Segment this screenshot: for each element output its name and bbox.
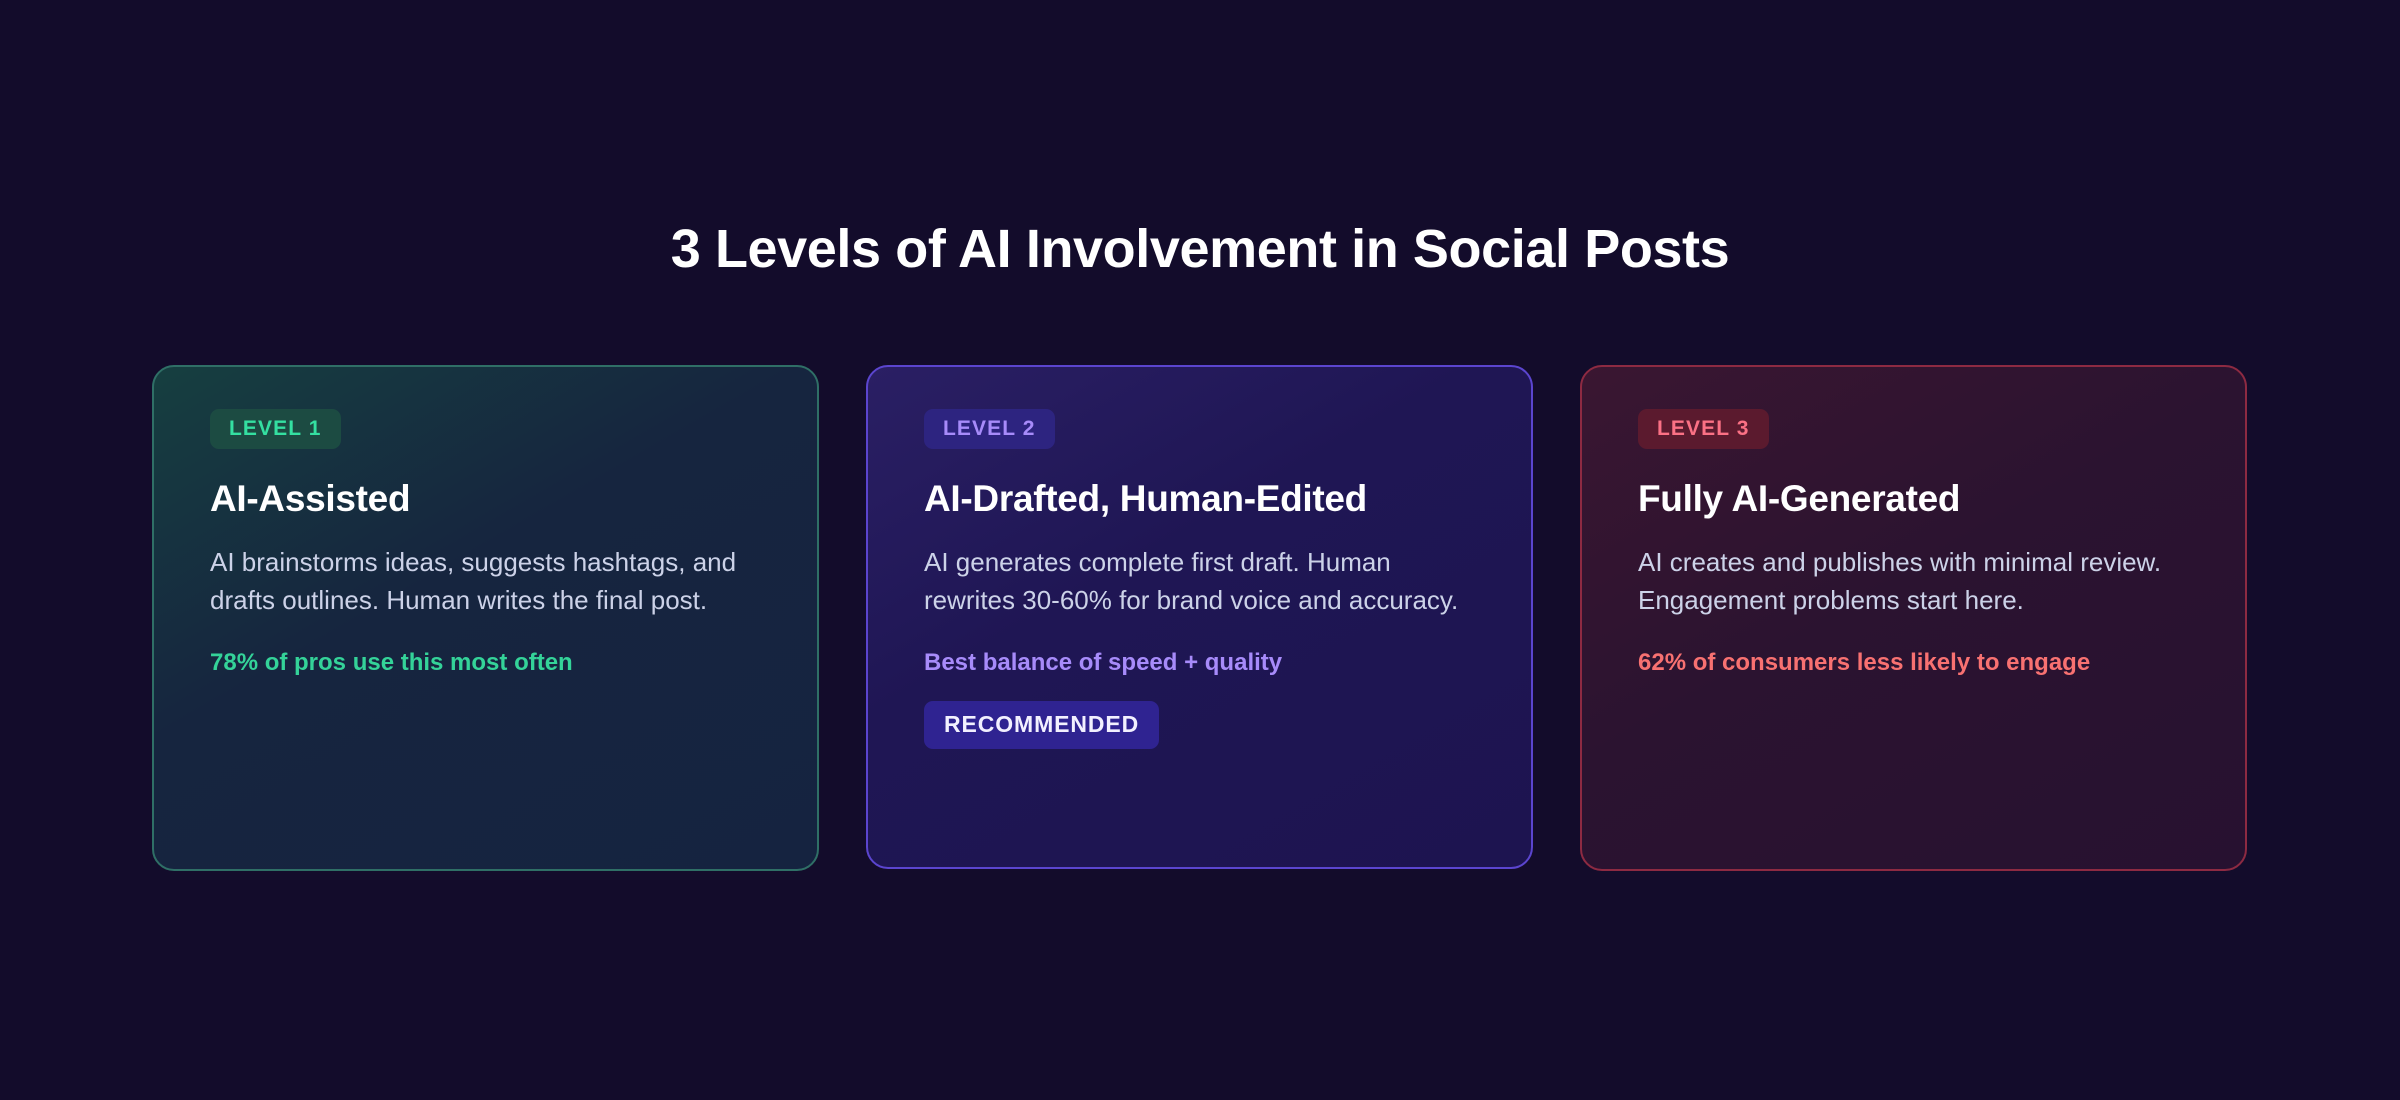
level-title-1: AI-Assisted <box>210 478 761 521</box>
level-title-3: Fully AI-Generated <box>1638 478 2189 521</box>
level-title-2: AI-Drafted, Human-Edited <box>924 478 1475 521</box>
level-stat-2: Best balance of speed + quality <box>924 647 1475 678</box>
level-card-3[interactable]: LEVEL 3 Fully AI-Generated AI creates an… <box>1580 365 2247 871</box>
level-card-1[interactable]: LEVEL 1 AI-Assisted AI brainstorms ideas… <box>152 365 819 871</box>
level-card-2[interactable]: LEVEL 2 AI-Drafted, Human-Edited AI gene… <box>866 365 1533 869</box>
page-title: 3 Levels of AI Involvement in Social Pos… <box>0 218 2400 280</box>
level-description-2: AI generates complete first draft. Human… <box>924 543 1475 620</box>
page-root: 3 Levels of AI Involvement in Social Pos… <box>0 0 2400 1100</box>
levels-card-list: LEVEL 1 AI-Assisted AI brainstorms ideas… <box>152 365 2248 871</box>
level-description-3: AI creates and publishes with minimal re… <box>1638 543 2189 620</box>
level-badge-2: LEVEL 2 <box>924 409 1055 449</box>
level-stat-3: 62% of consumers less likely to engage <box>1638 647 2189 678</box>
level-badge-3: LEVEL 3 <box>1638 409 1769 449</box>
recommended-badge: RECOMMENDED <box>924 701 1159 749</box>
level-badge-1: LEVEL 1 <box>210 409 341 449</box>
level-description-1: AI brainstorms ideas, suggests hashtags,… <box>210 543 761 620</box>
level-stat-1: 78% of pros use this most often <box>210 647 761 678</box>
